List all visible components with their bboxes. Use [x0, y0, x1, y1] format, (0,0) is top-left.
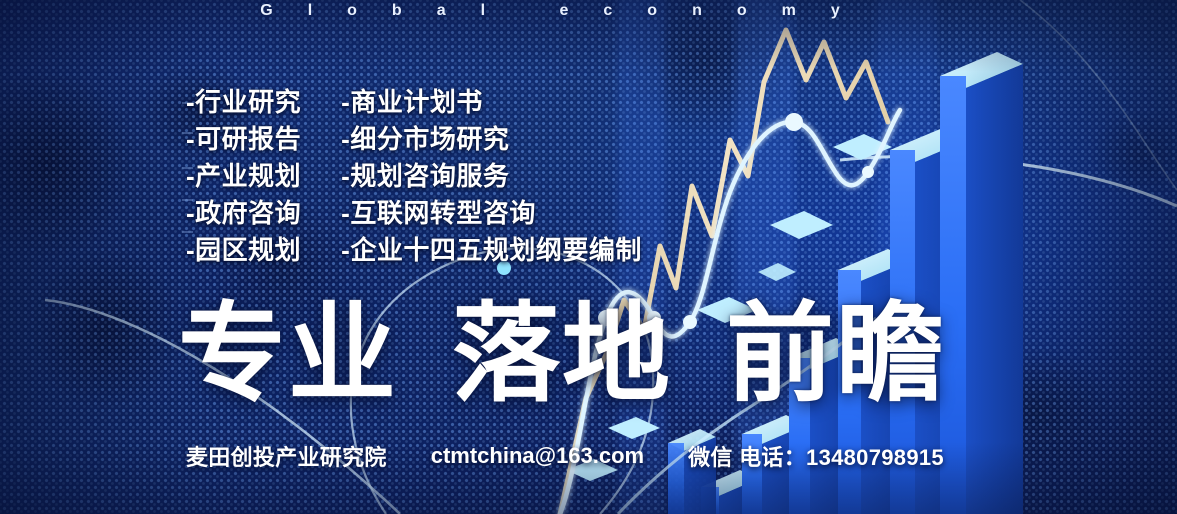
headline-word-2: 落地 — [452, 298, 672, 410]
footer-contact-bar: 麦田创投产业研究院 ctmtchina@163.com 微信 电话：134807… — [186, 440, 944, 472]
banner-top-title: Global economy — [0, 2, 1100, 20]
service-item: -可研报告 — [186, 123, 301, 155]
service-item: -政府咨询 — [186, 197, 301, 229]
service-item: -企业十四五规划纲要编制 — [341, 234, 642, 266]
headline-slogan: 专业 落地 前瞻 — [178, 298, 946, 410]
services-column-left: -行业研究 -可研报告 -产业规划 -政府咨询 -园区规划 — [186, 86, 301, 266]
promotional-banner: Global economy -行业研究 -可研报告 -产业规划 -政府咨询 -… — [0, 0, 1177, 514]
headline-word-3: 前瞻 — [726, 298, 946, 410]
services-column-right: -商业计划书 -细分市场研究 -规划咨询服务 -互联网转型咨询 -企业十四五规划… — [341, 86, 642, 266]
phone-contact: 微信 电话：13480798915 — [688, 440, 944, 472]
service-item: -园区规划 — [186, 234, 301, 266]
organization-name: 麦田创投产业研究院 — [186, 440, 387, 472]
service-item: -产业规划 — [186, 160, 301, 192]
service-item: -细分市场研究 — [341, 123, 642, 155]
services-list: -行业研究 -可研报告 -产业规划 -政府咨询 -园区规划 -商业计划书 -细分… — [186, 86, 642, 266]
service-item: -互联网转型咨询 — [341, 197, 642, 229]
service-item: -行业研究 — [186, 86, 301, 118]
email-address[interactable]: ctmtchina@163.com — [431, 443, 644, 469]
service-item: -商业计划书 — [341, 86, 642, 118]
service-item: -规划咨询服务 — [341, 160, 642, 192]
headline-word-1: 专业 — [178, 298, 398, 410]
